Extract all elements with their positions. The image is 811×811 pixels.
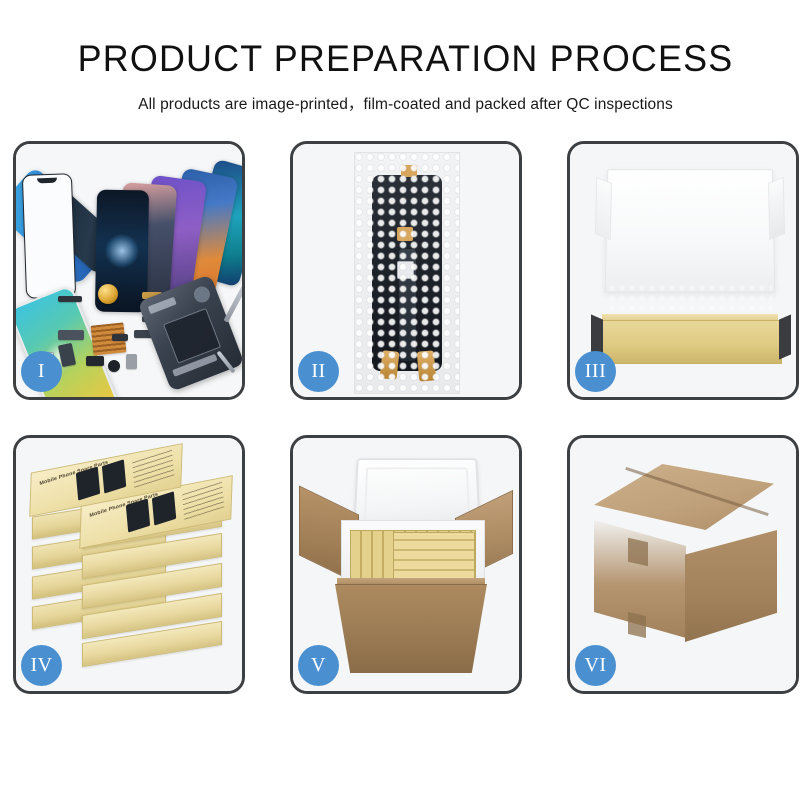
bubble-wrap-bag <box>354 152 460 394</box>
step-panel-2[interactable]: II <box>290 141 522 400</box>
carton-right-face <box>685 530 777 642</box>
step-badge-6: VI <box>575 645 616 686</box>
gold-box-base <box>600 320 782 364</box>
gold-box-stack: Mobile Phone Spare Parts Mobile Phone Sp… <box>28 466 233 666</box>
steps-grid: I II <box>13 141 799 694</box>
product-preparation-infographic: PRODUCT PREPARATION PROCESS All products… <box>0 0 811 811</box>
step-panel-3[interactable]: III <box>567 141 799 400</box>
carton-top-face <box>594 464 774 530</box>
step-panel-5[interactable]: V <box>290 435 522 694</box>
home-button-part-icon <box>98 284 118 304</box>
step-badge-1: I <box>21 351 62 392</box>
step-badge-4: IV <box>21 645 62 686</box>
step-panel-1[interactable]: I <box>13 141 245 400</box>
carton-front-face <box>335 584 487 673</box>
step-badge-2: II <box>298 351 339 392</box>
screen-protector-icon <box>22 173 76 299</box>
step-badge-5: V <box>298 645 339 686</box>
phone-screen-fan <box>76 162 242 297</box>
step-badge-3: III <box>575 351 616 392</box>
page-subtitle: All products are image-printed，film-coat… <box>0 92 811 114</box>
header: PRODUCT PREPARATION PROCESS All products… <box>0 0 811 114</box>
white-box-lid <box>605 169 776 292</box>
step-panel-4[interactable]: Mobile Phone Spare Parts Mobile Phone Sp… <box>13 435 245 694</box>
step-panel-6[interactable]: VI <box>567 435 799 694</box>
page-title: PRODUCT PREPARATION PROCESS <box>12 40 799 79</box>
